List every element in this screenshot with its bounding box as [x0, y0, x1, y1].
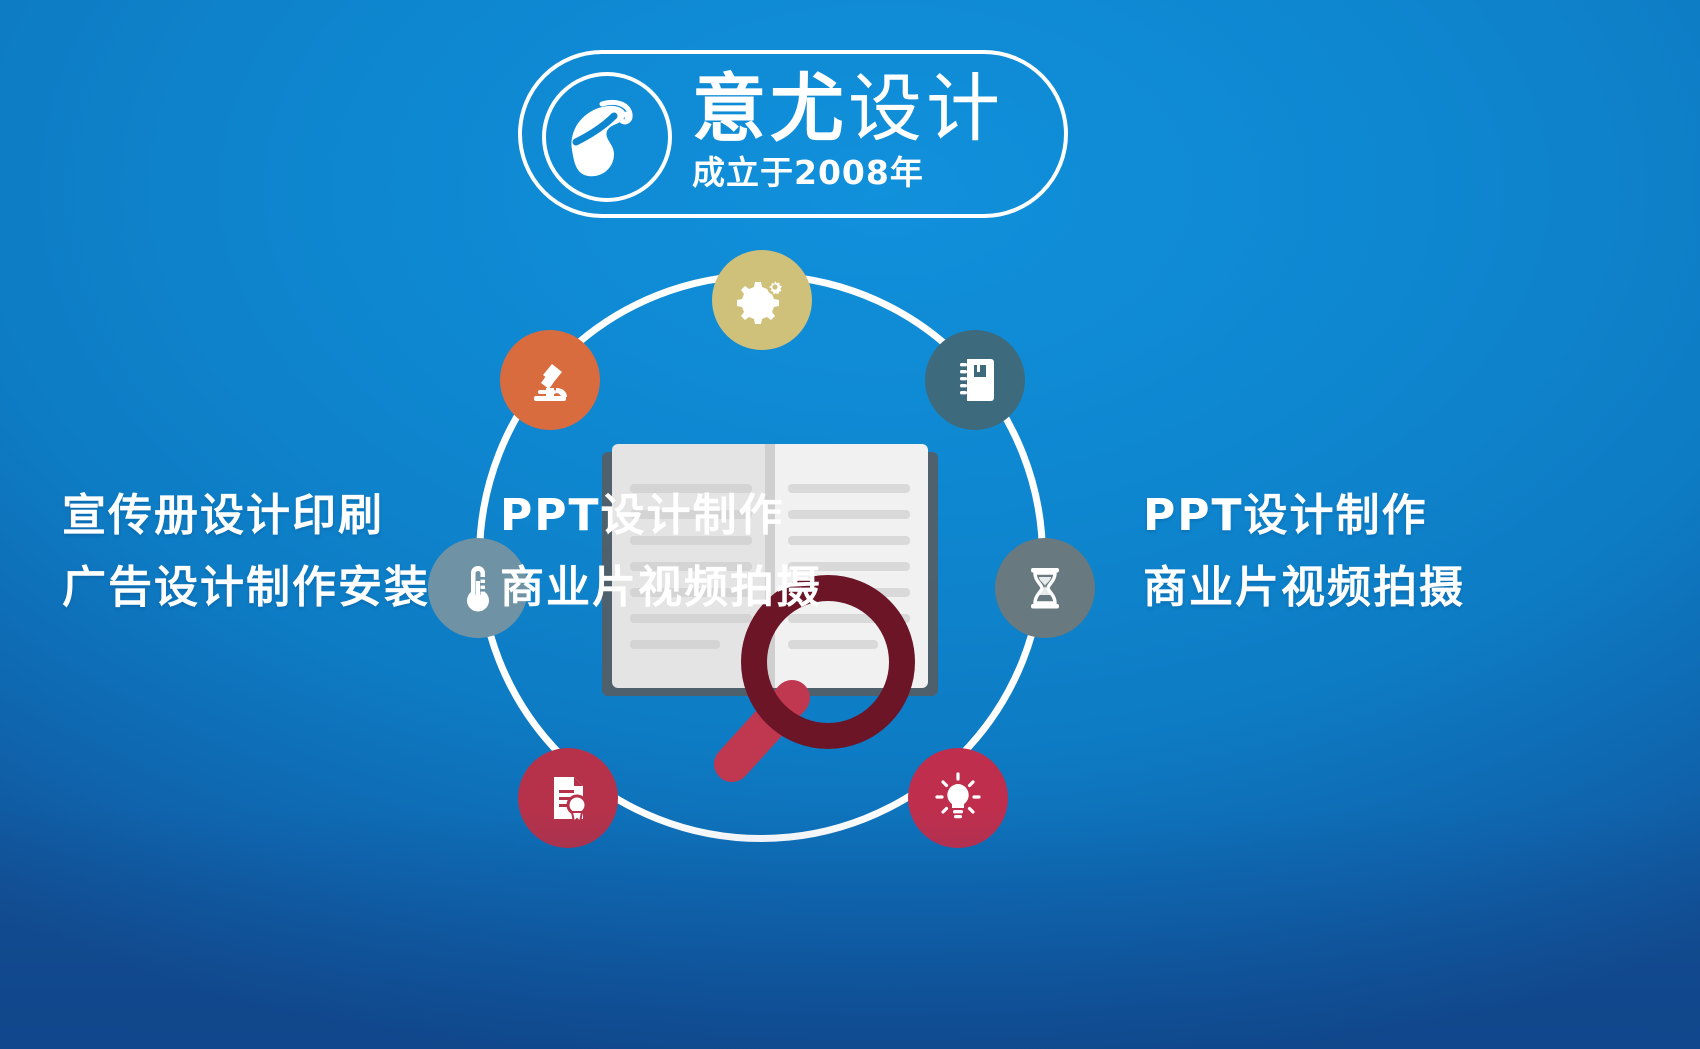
- brand-name-bold: 意尤: [692, 66, 848, 152]
- right-service-text: PPT设计制作 商业片视频拍摄: [1143, 480, 1465, 624]
- notebook-icon: [948, 353, 1002, 407]
- leaf-logo-glyph: [562, 98, 646, 180]
- center-service-line1: PPT设计制作: [500, 480, 822, 552]
- left-service-text: 宣传册设计印刷 广告设计制作安装: [62, 480, 430, 624]
- node-microscope[interactable]: [500, 330, 600, 430]
- center-service-line2: 商业片视频拍摄: [500, 552, 822, 624]
- node-gear[interactable]: [712, 250, 812, 350]
- node-notebook[interactable]: [925, 330, 1025, 430]
- gear-icon: [734, 272, 790, 328]
- microscope-icon: [522, 352, 578, 408]
- brand-logo: 意尤设计 成立于2008年: [518, 50, 1068, 218]
- leaf-logo-icon: [542, 72, 672, 202]
- brand-name-thin: 设计: [848, 66, 1004, 152]
- node-hourglass[interactable]: [995, 538, 1095, 638]
- right-service-line1: PPT设计制作: [1143, 480, 1465, 552]
- center-service-text: PPT设计制作 商业片视频拍摄: [500, 480, 822, 624]
- brand-wordmark: 意尤设计 成立于2008年: [692, 66, 1062, 216]
- left-service-line1: 宣传册设计印刷: [62, 480, 430, 552]
- right-service-line2: 商业片视频拍摄: [1143, 552, 1465, 624]
- left-service-line2: 广告设计制作安装: [62, 552, 430, 624]
- brand-tagline: 成立于2008年: [692, 154, 1062, 192]
- slide-canvas: 意尤设计 成立于2008年: [0, 0, 1700, 1049]
- hourglass-icon: [1018, 561, 1072, 615]
- thermometer-icon: [451, 561, 505, 615]
